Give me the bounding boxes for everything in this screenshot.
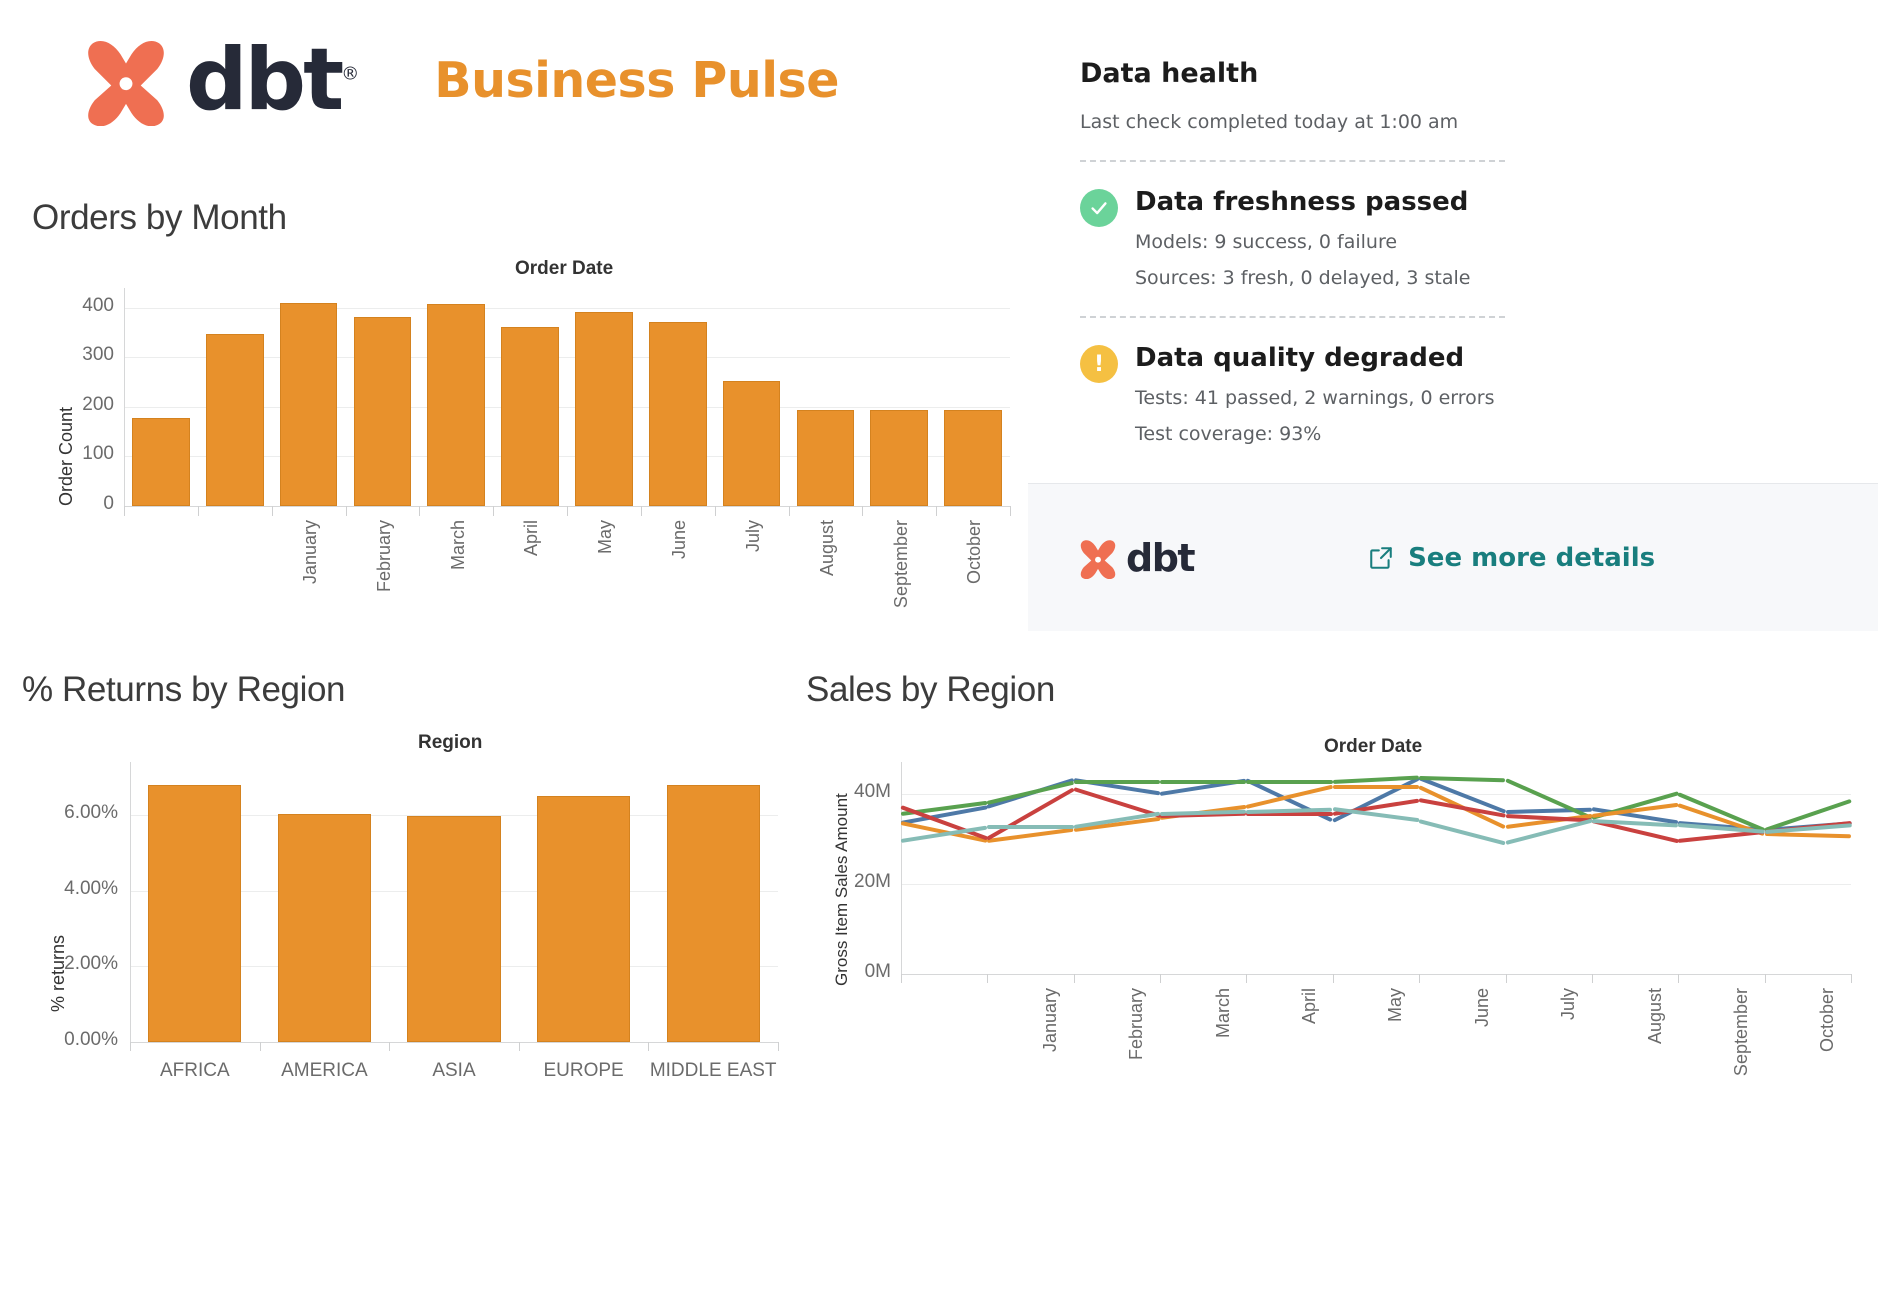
health-item-quality: ! Data quality degraded Tests: 41 passed… — [1080, 343, 1870, 445]
x-axis-tick-label: October — [1817, 988, 1838, 1118]
health-item-freshness: Data freshness passed Models: 9 success,… — [1080, 187, 1870, 289]
line-segment — [1333, 785, 1419, 789]
warning-circle-icon: ! — [1080, 345, 1118, 383]
see-more-details-card[interactable]: dbt See more details — [1028, 483, 1878, 631]
line-segment — [1160, 780, 1246, 784]
x-axis-tick-label: June — [1472, 988, 1493, 1118]
line-segment — [1765, 832, 1851, 838]
x-axis-line — [901, 974, 1851, 975]
x-axis-tick-label: August — [1645, 988, 1666, 1118]
chart-header-label: Order Date — [1324, 736, 1422, 758]
line-segment — [1074, 780, 1160, 784]
x-axis-tick — [1678, 974, 1679, 983]
x-axis-tick — [1160, 974, 1161, 983]
line-segment — [987, 780, 1074, 804]
x-axis-tick-label: May — [1385, 988, 1406, 1118]
x-axis-tick — [1074, 974, 1075, 983]
x-axis-tick — [1419, 974, 1420, 983]
gridline — [901, 884, 1851, 885]
y-axis-tick-label: 0M — [827, 961, 891, 983]
health-item-body: Data quality degraded Tests: 41 passed, … — [1135, 343, 1495, 445]
health-item-line: Test coverage: 93% — [1135, 423, 1495, 445]
x-axis-tick-label: April — [1299, 988, 1320, 1118]
x-axis-tick — [1506, 974, 1507, 983]
x-axis-tick — [987, 974, 988, 983]
x-axis-tick-label: September — [1731, 988, 1752, 1118]
x-axis-tick — [1851, 974, 1852, 983]
dbt-mark-icon — [1077, 537, 1119, 579]
health-item-line: Sources: 3 fresh, 0 delayed, 3 stale — [1135, 267, 1470, 289]
see-more-details-label: See more details — [1408, 543, 1655, 573]
x-axis-tick — [1333, 974, 1334, 983]
line-segment — [987, 825, 1073, 829]
dbt-logo-small: dbt — [1077, 536, 1194, 580]
y-axis-line — [901, 762, 902, 974]
data-health-subtitle: Last check completed today at 1:00 am — [1080, 111, 1870, 133]
health-item-heading: Data quality degraded — [1135, 343, 1495, 373]
health-item-body: Data freshness passed Models: 9 success,… — [1135, 187, 1470, 289]
line-segment — [1246, 780, 1332, 784]
x-axis-tick — [901, 974, 902, 983]
x-axis-tick-label: July — [1558, 988, 1579, 1118]
x-axis-tick — [1246, 974, 1247, 983]
health-item-line: Tests: 41 passed, 2 warnings, 0 errors — [1135, 387, 1495, 409]
y-axis-tick-label: 20M — [827, 871, 891, 893]
see-more-details-link[interactable]: See more details — [1368, 543, 1655, 573]
check-circle-icon — [1080, 189, 1118, 227]
x-axis-tick-label: March — [1213, 988, 1234, 1118]
dbt-wordmark-small: dbt — [1126, 536, 1194, 580]
x-axis-tick — [1592, 974, 1593, 983]
y-axis-tick-label: 40M — [827, 781, 891, 803]
x-axis-tick — [1765, 974, 1766, 983]
health-item-line: Models: 9 success, 0 failure — [1135, 231, 1470, 253]
x-axis-tick-label: February — [1126, 988, 1147, 1118]
gridline — [901, 794, 1851, 795]
external-link-icon — [1368, 545, 1394, 571]
divider — [1080, 160, 1505, 162]
data-health-title: Data health — [1080, 58, 1870, 89]
check-glyph-icon — [1088, 197, 1110, 219]
x-axis-tick-label: January — [1040, 988, 1061, 1118]
data-health-panel: Data health Last check completed today a… — [1080, 58, 1870, 445]
divider — [1080, 316, 1505, 318]
dashboard-page: dbt® Business Pulse Orders by Month % Re… — [0, 0, 1878, 1312]
health-item-heading: Data freshness passed — [1135, 187, 1470, 217]
